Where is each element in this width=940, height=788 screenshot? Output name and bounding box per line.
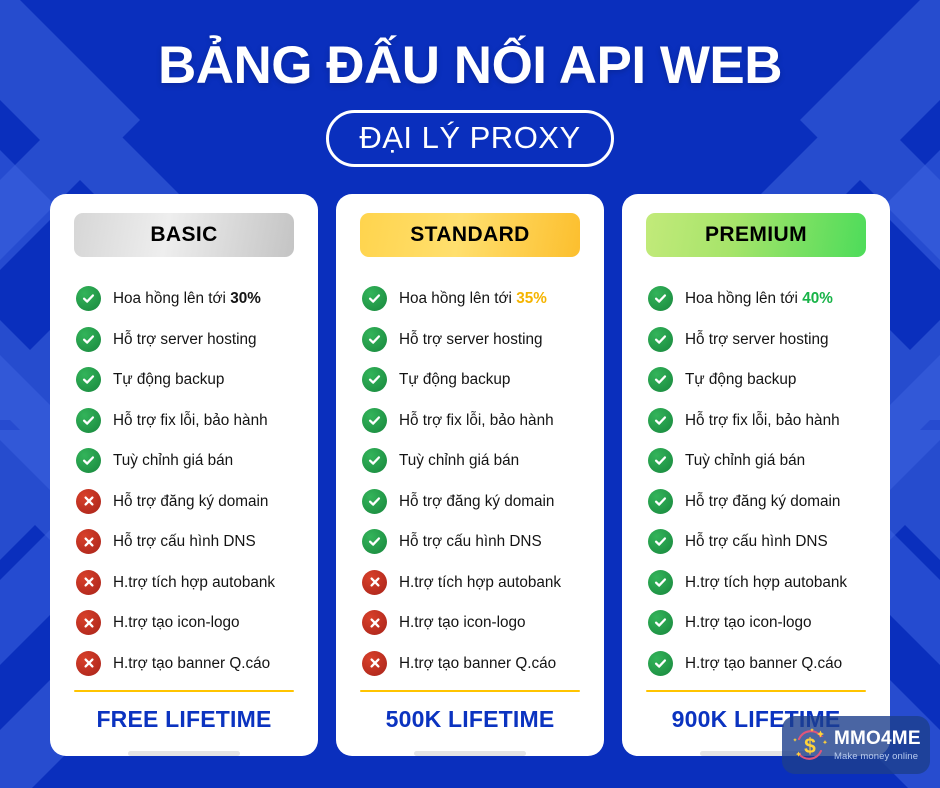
feature-row: Hỗ trợ fix lỗi, bảo hành — [638, 400, 874, 441]
pricing-cards-row: BASICHoa hồng lên tới 30%Hỗ trợ server h… — [0, 194, 940, 756]
card-bottom-bar — [128, 751, 240, 755]
watermark-logo: $ MMO4ME Make money online — [782, 716, 930, 774]
check-icon — [76, 448, 101, 473]
feature-label: Hỗ trợ server hosting — [685, 331, 829, 349]
feature-list: Hoa hồng lên tới 35%Hỗ trợ server hostin… — [352, 279, 588, 684]
feature-label: Tuỳ chỉnh giá bán — [685, 452, 805, 470]
feature-label: H.trợ tạo icon-logo — [113, 614, 240, 632]
dollar-star-icon: $ — [790, 725, 830, 765]
commission-value: 30% — [230, 290, 261, 307]
watermark-brand: MMO4ME — [834, 729, 921, 748]
check-icon — [76, 408, 101, 433]
cross-icon — [362, 570, 387, 595]
page-header: BẢNG ĐẤU NỐI API WEB ĐẠI LÝ PROXY — [0, 0, 940, 167]
feature-row: H.trợ tạo banner Q.cáo — [352, 643, 588, 684]
check-icon — [648, 610, 673, 635]
feature-row: Hoa hồng lên tới 35% — [352, 279, 588, 320]
feature-row: Hỗ trợ cấu hình DNS — [66, 522, 302, 563]
feature-label: Tự động backup — [685, 371, 796, 389]
feature-label: H.trợ tạo banner Q.cáo — [685, 655, 842, 673]
feature-label: Hỗ trợ cấu hình DNS — [113, 533, 256, 551]
cross-icon — [76, 489, 101, 514]
feature-list: Hoa hồng lên tới 30%Hỗ trợ server hostin… — [66, 279, 302, 684]
plan-price: FREE LIFETIME — [66, 692, 302, 733]
feature-label: Hỗ trợ đăng ký domain — [685, 493, 840, 511]
feature-label: Tự động backup — [113, 371, 224, 389]
feature-row: H.trợ tích hợp autobank — [66, 562, 302, 603]
check-icon — [648, 529, 673, 554]
commission-value: 35% — [516, 290, 547, 307]
feature-row: Tuỳ chỉnh giá bán — [638, 441, 874, 482]
feature-row: H.trợ tạo icon-logo — [638, 603, 874, 644]
feature-row: Hỗ trợ đăng ký domain — [66, 481, 302, 522]
feature-row: Hỗ trợ server hosting — [352, 319, 588, 360]
feature-label: Tuỳ chỉnh giá bán — [113, 452, 233, 470]
check-icon — [362, 448, 387, 473]
feature-row: Tự động backup — [638, 360, 874, 401]
plan-price: 500K LIFETIME — [352, 692, 588, 733]
cross-icon — [76, 570, 101, 595]
check-icon — [362, 529, 387, 554]
check-icon — [362, 408, 387, 433]
feature-label: H.trợ tích hợp autobank — [113, 574, 275, 592]
page-title: BẢNG ĐẤU NỐI API WEB — [0, 38, 940, 94]
feature-label: H.trợ tích hợp autobank — [685, 574, 847, 592]
check-icon — [648, 489, 673, 514]
cross-icon — [76, 651, 101, 676]
check-icon — [76, 327, 101, 352]
feature-label-text: Hoa hồng lên tới — [113, 290, 230, 307]
feature-row: Hỗ trợ đăng ký domain — [638, 481, 874, 522]
pricing-card-basic[interactable]: BASICHoa hồng lên tới 30%Hỗ trợ server h… — [50, 194, 318, 756]
feature-row: Hỗ trợ cấu hình DNS — [638, 522, 874, 563]
card-bottom-bar — [414, 751, 526, 755]
feature-label: H.trợ tạo icon-logo — [399, 614, 526, 632]
check-icon — [648, 448, 673, 473]
svg-text:$: $ — [804, 735, 816, 758]
check-icon — [76, 367, 101, 392]
commission-value: 40% — [802, 290, 833, 307]
cross-icon — [76, 610, 101, 635]
feature-row: H.trợ tạo icon-logo — [352, 603, 588, 644]
feature-row: Hỗ trợ cấu hình DNS — [352, 522, 588, 563]
feature-label: H.trợ tạo icon-logo — [685, 614, 812, 632]
feature-label: Hỗ trợ server hosting — [113, 331, 257, 349]
feature-label-text: Hoa hồng lên tới — [399, 290, 516, 307]
feature-row: Tự động backup — [66, 360, 302, 401]
check-icon — [648, 408, 673, 433]
feature-row: H.trợ tạo banner Q.cáo — [66, 643, 302, 684]
feature-label: H.trợ tạo banner Q.cáo — [399, 655, 556, 673]
feature-label: Hỗ trợ fix lỗi, bảo hành — [113, 412, 268, 430]
check-icon — [362, 489, 387, 514]
plan-badge: PREMIUM — [646, 213, 866, 257]
cross-icon — [76, 529, 101, 554]
check-icon — [648, 651, 673, 676]
feature-label: Tuỳ chỉnh giá bán — [399, 452, 519, 470]
pricing-card-premium[interactable]: PREMIUMHoa hồng lên tới 40%Hỗ trợ server… — [622, 194, 890, 756]
feature-label: Hoa hồng lên tới 35% — [399, 290, 547, 308]
check-icon — [362, 367, 387, 392]
plan-badge: BASIC — [74, 213, 294, 257]
feature-label: Hỗ trợ cấu hình DNS — [399, 533, 542, 551]
feature-row: Hỗ trợ fix lỗi, bảo hành — [352, 400, 588, 441]
check-icon — [362, 286, 387, 311]
check-icon — [648, 570, 673, 595]
feature-label: Tự động backup — [399, 371, 510, 389]
feature-label: H.trợ tạo banner Q.cáo — [113, 655, 270, 673]
feature-row: H.trợ tạo icon-logo — [66, 603, 302, 644]
check-icon — [648, 367, 673, 392]
feature-row: Hỗ trợ fix lỗi, bảo hành — [66, 400, 302, 441]
feature-row: Hoa hồng lên tới 40% — [638, 279, 874, 320]
check-icon — [76, 286, 101, 311]
feature-label: Hỗ trợ đăng ký domain — [399, 493, 554, 511]
feature-row: Hoa hồng lên tới 30% — [66, 279, 302, 320]
feature-label: Hỗ trợ đăng ký domain — [113, 493, 268, 511]
feature-row: Hỗ trợ server hosting — [66, 319, 302, 360]
feature-row: H.trợ tích hợp autobank — [352, 562, 588, 603]
pricing-card-standard[interactable]: STANDARDHoa hồng lên tới 35%Hỗ trợ serve… — [336, 194, 604, 756]
feature-row: Tự động backup — [352, 360, 588, 401]
feature-row: Hỗ trợ đăng ký domain — [352, 481, 588, 522]
feature-label: Hỗ trợ server hosting — [399, 331, 543, 349]
feature-row: Hỗ trợ server hosting — [638, 319, 874, 360]
feature-row: H.trợ tạo banner Q.cáo — [638, 643, 874, 684]
feature-row: Tuỳ chỉnh giá bán — [352, 441, 588, 482]
feature-label: Hoa hồng lên tới 40% — [685, 290, 833, 308]
feature-row: H.trợ tích hợp autobank — [638, 562, 874, 603]
subtitle-badge: ĐẠI LÝ PROXY — [326, 110, 613, 167]
cross-icon — [362, 610, 387, 635]
feature-label: Hỗ trợ fix lỗi, bảo hành — [399, 412, 554, 430]
plan-badge: STANDARD — [360, 213, 580, 257]
feature-label-text: Hoa hồng lên tới — [685, 290, 802, 307]
feature-label: Hỗ trợ fix lỗi, bảo hành — [685, 412, 840, 430]
feature-list: Hoa hồng lên tới 40%Hỗ trợ server hostin… — [638, 279, 874, 684]
check-icon — [648, 327, 673, 352]
watermark-text: MMO4ME Make money online — [834, 729, 921, 762]
check-icon — [362, 327, 387, 352]
feature-label: H.trợ tích hợp autobank — [399, 574, 561, 592]
check-icon — [648, 286, 673, 311]
cross-icon — [362, 651, 387, 676]
feature-label: Hỗ trợ cấu hình DNS — [685, 533, 828, 551]
feature-label: Hoa hồng lên tới 30% — [113, 290, 261, 308]
watermark-tagline: Make money online — [834, 752, 921, 762]
feature-row: Tuỳ chỉnh giá bán — [66, 441, 302, 482]
